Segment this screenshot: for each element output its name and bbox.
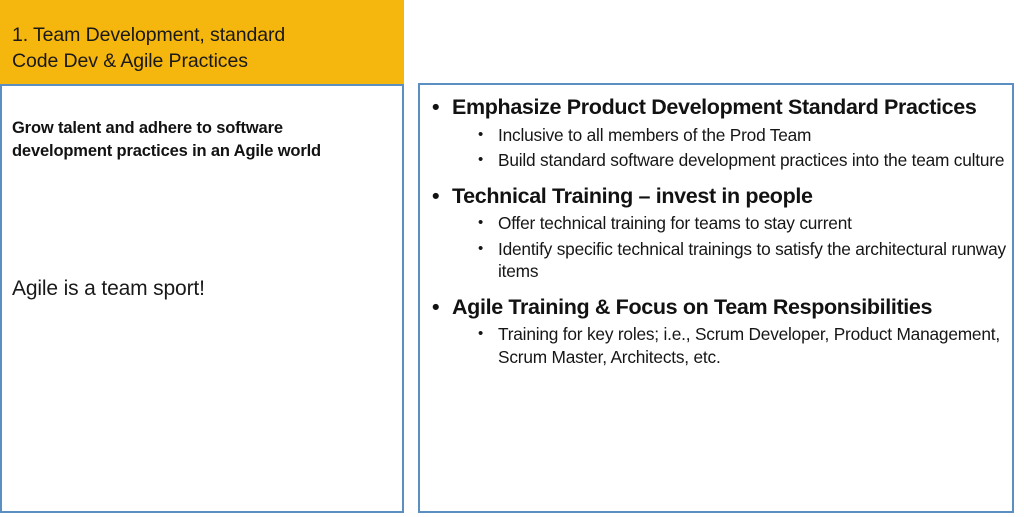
left-header-title: 1. Team Development, standard Code Dev &… [12,22,390,74]
bullet-level2-label: Training for key roles; i.e., Scrum Deve… [498,324,1000,367]
bullet-level2-list: • Training for key roles; i.e., Scrum De… [430,323,1006,368]
bullet-dot-icon: • [478,124,483,147]
bullet-dot-icon: • [478,323,483,346]
bullet-level2-label: Inclusive to all members of the Prod Tea… [498,125,811,145]
left-tagline-text: Agile is a team sport! [12,276,392,302]
group-spacer [430,172,1006,181]
bullet-dot-icon: • [478,238,483,261]
bullet-dot-icon: • [478,212,483,235]
bullet-dot-icon: • [432,94,439,121]
bullet-level1: • Agile Training & Focus on Team Respons… [430,294,1006,321]
bullet-group: • Emphasize Product Development Standard… [430,94,1006,172]
bullet-level1-label: Agile Training & Focus on Team Responsib… [452,295,932,319]
right-bullet-panel: • Emphasize Product Development Standard… [418,83,1014,513]
bullet-level1-label: Technical Training – invest in people [452,184,813,208]
bullet-level2-list: • Offer technical training for teams to … [430,212,1006,283]
left-header-banner: 1. Team Development, standard Code Dev &… [0,0,404,84]
bullet-level1-label: Emphasize Product Development Standard P… [452,95,976,119]
bullet-level2-label: Build standard software development prac… [498,150,1004,170]
bullet-level1: • Technical Training – invest in people [430,183,1006,210]
bullet-level2-label: Identify specific technical trainings to… [498,239,1006,282]
left-body-box: Grow talent and adhere to software devel… [0,84,404,513]
left-column: 1. Team Development, standard Code Dev &… [0,0,404,513]
bullet-level2-label: Offer technical training for teams to st… [498,213,852,233]
bullet-dot-icon: • [432,294,439,321]
bullet-level2: • Inclusive to all members of the Prod T… [430,124,1006,147]
bullet-level2-list: • Inclusive to all members of the Prod T… [430,124,1006,172]
bullet-dot-icon: • [432,183,439,210]
bullet-group: • Technical Training – invest in people … [430,183,1006,283]
bullet-group: • Agile Training & Focus on Team Respons… [430,294,1006,369]
bullet-level2: • Offer technical training for teams to … [430,212,1006,235]
bullet-dot-icon: • [478,149,483,172]
bullet-level2: • Identify specific technical trainings … [430,238,1006,283]
bullet-level2: • Training for key roles; i.e., Scrum De… [430,323,1006,368]
left-lede-text: Grow talent and adhere to software devel… [12,117,386,163]
bullet-level1: • Emphasize Product Development Standard… [430,94,1006,121]
group-spacer [430,283,1006,292]
bullet-level2: • Build standard software development pr… [430,149,1006,172]
